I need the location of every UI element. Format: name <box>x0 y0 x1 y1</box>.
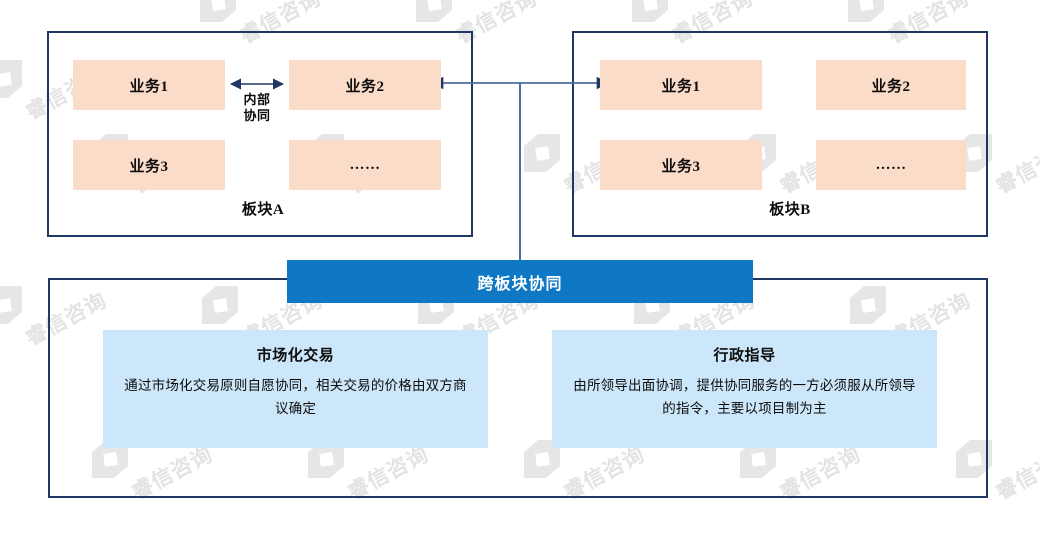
inner-link-label-line1: 内部 <box>226 92 288 108</box>
sector-b-box-3[interactable]: 业务3 <box>600 140 762 190</box>
mechanism-card-description: 由所领导出面协调，提供协同服务的一方必须服从所领导的指令，主要以项目制为主 <box>568 374 921 420</box>
logo-mark-icon <box>628 0 674 26</box>
logo-mark-icon <box>520 130 566 176</box>
mechanism-card-title: 市场化交易 <box>119 344 472 365</box>
sector-a-title: 板块A <box>173 198 353 219</box>
sector-b-box-4[interactable]: …… <box>816 140 966 190</box>
watermark-text: 睿信咨询 <box>990 132 1040 200</box>
cross-sector-banner-label: 跨板块协同 <box>477 270 562 294</box>
sector-a-box-4-label: …… <box>350 157 381 174</box>
logo-mark-icon <box>196 0 242 26</box>
sector-b-box-4-label: …… <box>876 157 907 174</box>
sector-b-box-3-label: 业务3 <box>661 155 700 176</box>
sector-a-box-3-label: 业务3 <box>129 155 168 176</box>
mechanism-card-market-transaction[interactable]: 市场化交易 通过市场化交易原则自愿协同，相关交易的价格由双方商议确定 <box>103 330 488 448</box>
sector-a-box-1[interactable]: 业务1 <box>73 60 225 110</box>
sector-a-box-2-label: 业务2 <box>345 75 384 96</box>
logo-mark-icon <box>412 0 458 26</box>
mechanism-card-administrative-guidance[interactable]: 行政指导 由所领导出面协调，提供协同服务的一方必须服从所领导的指令，主要以项目制… <box>552 330 937 448</box>
inner-link-label-line2: 协同 <box>226 108 288 124</box>
mechanism-card-description: 通过市场化交易原则自愿协同，相关交易的价格由双方商议确定 <box>119 374 472 420</box>
watermark-text: 睿信咨询 <box>990 438 1040 506</box>
cross-sector-banner[interactable]: 跨板块协同 <box>287 260 753 303</box>
logo-mark-icon <box>844 0 890 26</box>
logo-mark-icon <box>0 282 28 328</box>
inner-link-label: 内部 协同 <box>226 92 288 125</box>
sector-a-box-2[interactable]: 业务2 <box>289 60 441 110</box>
sector-a-box-4[interactable]: …… <box>289 140 441 190</box>
sector-b-box-1[interactable]: 业务1 <box>600 60 762 110</box>
sector-b-box-1-label: 业务1 <box>661 75 700 96</box>
mechanism-card-title: 行政指导 <box>568 344 921 365</box>
logo-mark-icon <box>0 56 28 102</box>
sector-b-box-2-label: 业务2 <box>871 75 910 96</box>
diagram-canvas: 睿信咨询 睿信咨询 睿信咨询 睿信咨询 <box>0 0 1040 534</box>
sector-b-box-2[interactable]: 业务2 <box>816 60 966 110</box>
sector-a-box-3[interactable]: 业务3 <box>73 140 225 190</box>
sector-b-title: 板块B <box>700 198 880 219</box>
sector-a-box-1-label: 业务1 <box>129 75 168 96</box>
